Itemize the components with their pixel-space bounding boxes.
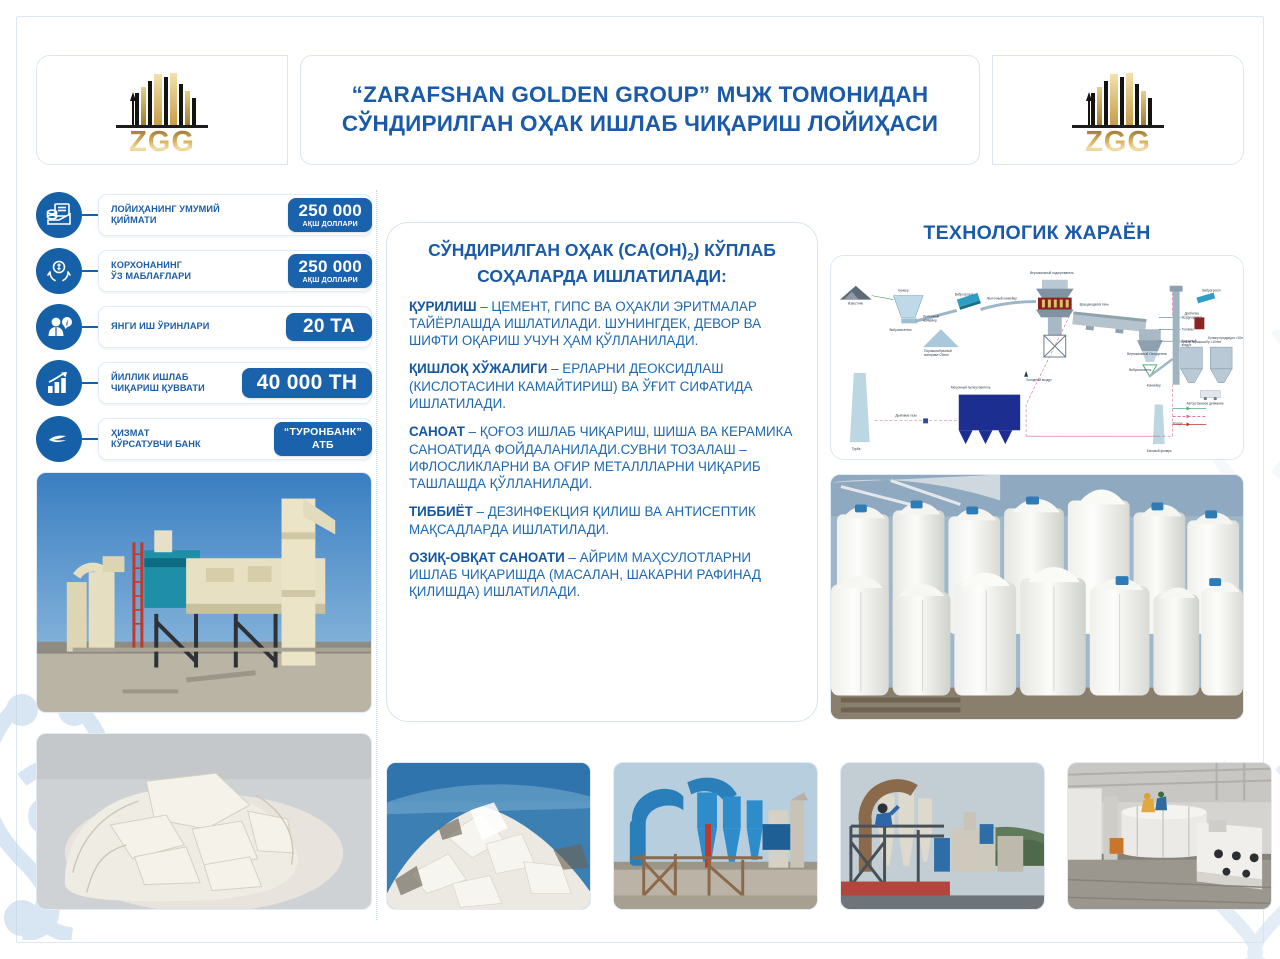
hands-dollar-icon bbox=[36, 248, 82, 294]
svg-text:Конвейер: Конвейер bbox=[1147, 384, 1161, 388]
svg-text:Виброгрохот: Виброгрохот bbox=[955, 293, 974, 297]
status-badge: 20 ТА bbox=[286, 313, 372, 341]
stat-row: ЛОЙИҲАНИНГ УМУМИЙ ҚИЙМАТИ 250 000 АҚШ ДО… bbox=[36, 192, 372, 238]
stat-value: “ТУРОНБАНК” АТБ bbox=[284, 426, 362, 452]
stat-pill: КОРХОНАНИНГ ЎЗ МАБЛАҒЛАРИ 250 000 АҚШ ДО… bbox=[98, 250, 372, 292]
crushed-lime-pile-photo bbox=[386, 762, 591, 910]
stat-label: ҲИЗМАТ КЎРСАТУВЧИ БАНК bbox=[111, 428, 201, 451]
stat-label: КОРХОНАНИНГ ЎЗ МАБЛАҒЛАРИ bbox=[111, 260, 191, 283]
title-line-2: СЎНДИРИЛГАН ОҲАК ИШЛАБ ЧИҚАРИШ ЛОЙИҲАСИ bbox=[342, 111, 938, 136]
svg-text:Вибропитатель: Вибропитатель bbox=[1129, 368, 1152, 372]
svg-text:Бункер продукции >10mm: Бункер продукции >10mm bbox=[1208, 336, 1243, 340]
use-text: – ҚОҒОЗ ИШЛАБ ЧИҚАРИШ, ШИША ВА КЕРАМИКА … bbox=[409, 424, 792, 491]
stat-row: ЙИЛЛИК ИШЛАБ ЧИҚАРИШ ҚУВВАТИ 40 000 ТН bbox=[36, 360, 372, 406]
title-line-1: “ZARAFSHAN GOLDEN GROUP” МЧЖ ТОМОНИДАН bbox=[352, 82, 929, 107]
use-item: ҚИШЛОҚ ХЎЖАЛИГИ – ЕРЛАРНИ ДЕОКСИДЛАШ (КИ… bbox=[409, 360, 795, 412]
stat-connector bbox=[82, 438, 98, 440]
uses-heading-prefix: СЎНДИРИЛГАН ОҲАК (CA(OH) bbox=[428, 240, 687, 260]
uses-heading: СЎНДИРИЛГАН ОҲАК (CA(OH)2) КЎПЛАБ СОҲАЛА… bbox=[409, 239, 795, 288]
stat-connector bbox=[82, 382, 98, 384]
use-term: ҚИШЛОҚ ХЎЖАЛИГИ bbox=[409, 361, 547, 376]
svg-text:Топливо: Топливо bbox=[1182, 327, 1194, 331]
svg-text:Виброгрохот: Виброгрохот bbox=[1202, 289, 1221, 293]
stat-unit: АҚШ ДОЛЛАРИ bbox=[298, 277, 362, 284]
stat-label: ЙИЛЛИК ИШЛАБ ЧИҚАРИШ ҚУВВАТИ bbox=[111, 372, 205, 395]
stat-value: 250 000 bbox=[298, 258, 362, 276]
use-term: САНОАТ bbox=[409, 424, 465, 439]
bottom-photo-strip bbox=[386, 762, 1244, 912]
svg-text:Мешочный пылеуловитель: Мешочный пылеуловитель bbox=[951, 386, 991, 390]
svg-text:Известняк: Известняк bbox=[848, 302, 864, 306]
white-mixer-machinery-photo bbox=[1067, 762, 1272, 910]
use-term: ТИББИЁТ bbox=[409, 504, 473, 519]
use-item: ТИББИЁТ – ДЕЗИНФЕКЦИЯ ҚИЛИШ ВА АНТИСЕПТИ… bbox=[409, 503, 795, 538]
svg-text:Вертикальный подогреватель: Вертикальный подогреватель bbox=[1030, 271, 1074, 275]
stat-value: 40 000 ТН bbox=[252, 372, 362, 394]
uses-panel: СЎНДИРИЛГАН ОҲАК (CA(OH)2) КЎПЛАБ СОҲАЛА… bbox=[386, 222, 818, 722]
stat-connector bbox=[82, 326, 98, 328]
status-badge: 40 000 ТН bbox=[242, 368, 372, 398]
status-badge: 250 000 АҚШ ДОЛЛАРИ bbox=[288, 254, 372, 288]
stat-row: ҲИЗМАТ КЎРСАТУВЧИ БАНК “ТУРОНБАНК” АТБ bbox=[36, 416, 372, 462]
svg-text:Бункер: Бункер bbox=[898, 289, 908, 293]
svg-text:Дробилка: Дробилка bbox=[1185, 311, 1200, 315]
stat-pill: ҲИЗМАТ КЎРСАТУВЧИ БАНК “ТУРОНБАНК” АТБ bbox=[98, 418, 372, 460]
industrial-lime-plant-photo bbox=[36, 472, 372, 713]
blue-cyclone-plant-photo bbox=[613, 762, 818, 910]
poster-page: ZGG “ZARAFSHAN GOLDEN GROUP” МЧЖ ТОМОНИД… bbox=[0, 0, 1280, 959]
stat-value: 20 ТА bbox=[296, 317, 362, 337]
svg-text:Дымовые газы: Дымовые газы bbox=[895, 413, 917, 417]
stat-pill: ЯНГИ ИШ ЎРИНЛАРИ 20 ТА bbox=[98, 306, 372, 348]
header: ZGG “ZARAFSHAN GOLDEN GROUP” МЧЖ ТОМОНИД… bbox=[36, 55, 1244, 165]
right-column: ТЕХНОЛОГИК ЖАРАЁН Известняк Бункер Вибро… bbox=[830, 222, 1244, 720]
svg-text:Труба: Труба bbox=[852, 447, 861, 451]
stat-connector bbox=[82, 270, 98, 272]
stat-value: 250 000 bbox=[298, 202, 362, 220]
stat-connector bbox=[82, 214, 98, 216]
svg-text:Ленточный конвейер: Ленточный конвейер bbox=[986, 297, 1017, 301]
use-term: ҚУРИЛИШ bbox=[409, 299, 477, 314]
zgg-wordmark: ZGG bbox=[1064, 126, 1172, 159]
stat-pill: ЛОЙИҲАНИНГ УМУМИЙ ҚИЙМАТИ 250 000 АҚШ ДО… bbox=[98, 194, 372, 236]
logo-panel-right: ZGG bbox=[992, 55, 1244, 165]
use-term: ОЗИҚ-ОВҚАТ САНОАТИ bbox=[409, 550, 565, 565]
use-item: ОЗИҚ-ОВҚАТ САНОАТИ – АЙРИМ МАҲСУЛОТЛАРНИ… bbox=[409, 549, 795, 601]
documents-money-icon bbox=[36, 192, 82, 238]
stat-label: ЛОЙИҲАНИНГ УМУМИЙ ҚИЙМАТИ bbox=[111, 204, 220, 227]
svg-text:Холодный воздух: Холодный воздух bbox=[1026, 378, 1052, 382]
person-info-icon: i bbox=[36, 304, 82, 350]
technological-process-diagram: Известняк Бункер Вибропитатель Ленточный… bbox=[830, 255, 1244, 460]
bank-wing-icon bbox=[36, 416, 82, 462]
stat-pill: ЙИЛЛИК ИШЛАБ ЧИҚАРИШ ҚУВВАТИ 40 000 ТН bbox=[98, 362, 372, 404]
use-item: САНОАТ – ҚОҒОЗ ИШЛАБ ЧИҚАРИШ, ШИША ВА КЕ… bbox=[409, 423, 795, 492]
stat-row: КОРХОНАНИНГ ЎЗ МАБЛАҒЛАРИ 250 000 АҚШ ДО… bbox=[36, 248, 372, 294]
svg-text:Вращающаяся печь: Вращающаяся печь bbox=[1080, 303, 1110, 307]
status-badge: 250 000 АҚШ ДОЛЛАРИ bbox=[288, 198, 372, 232]
uses-heading-suffix: ) КЎПЛАБ bbox=[693, 240, 775, 260]
status-badge: “ТУРОНБАНК” АТБ bbox=[274, 422, 372, 456]
growth-chart-icon bbox=[36, 360, 82, 406]
svg-text:Бытовой фонарь: Бытовой фонарь bbox=[1147, 449, 1172, 453]
svg-text:Автоустановое движение: Автоустановое движение bbox=[1187, 402, 1224, 406]
stat-label: ЯНГИ ИШ ЎРИНЛАРИ bbox=[111, 321, 210, 333]
lime-chunks-in-bag-photo bbox=[36, 733, 372, 910]
svg-text:Бункер порошкообр.<10mm: Бункер порошкообр.<10mm bbox=[1181, 340, 1222, 344]
stat-row: i ЯНГИ ИШ ЎРИНЛАРИ 20 ТА bbox=[36, 304, 372, 350]
uses-heading-line2: СОҲАЛАРДА ИШЛАТИЛАДИ: bbox=[477, 266, 727, 286]
logo-panel-left: ZGG bbox=[36, 55, 288, 165]
title-panel: “ZARAFSHAN GOLDEN GROUP” МЧЖ ТОМОНИДАН С… bbox=[300, 55, 980, 165]
svg-text:конвейер: конвейер bbox=[923, 318, 937, 322]
svg-text:материал<20mm: материал<20mm bbox=[924, 353, 949, 357]
stats-list: ЛОЙИҲАНИНГ УМУМИЙ ҚИЙМАТИ 250 000 АҚШ ДО… bbox=[36, 192, 372, 462]
svg-text:Воздух: Воздух bbox=[1173, 421, 1184, 425]
zgg-logo-icon: ZGG bbox=[1064, 69, 1172, 151]
tech-process-title: ТЕХНОЛОГИК ЖАРАЁН bbox=[830, 222, 1244, 245]
svg-text:Вертикальный Охладитель: Вертикальный Охладитель bbox=[1127, 352, 1167, 356]
column-divider bbox=[376, 190, 377, 920]
left-column: ЛОЙИҲАНИНГ УМУМИЙ ҚИЙМАТИ 250 000 АҚШ ДО… bbox=[36, 192, 372, 910]
stat-unit: АҚШ ДОЛЛАРИ bbox=[298, 221, 362, 228]
svg-text:Вибропитатель: Вибропитатель bbox=[889, 328, 912, 332]
page-title: “ZARAFSHAN GOLDEN GROUP” МЧЖ ТОМОНИДАН С… bbox=[342, 81, 938, 139]
stacked-white-bulk-bags-photo bbox=[830, 474, 1244, 720]
use-item: ҚУРИЛИШ – ЦЕМЕНТ, ГИПС ВА ОҲАКЛИ ЭРИТМАЛ… bbox=[409, 298, 795, 350]
worker-on-plant-structure-photo bbox=[840, 762, 1045, 910]
zgg-wordmark: ZGG bbox=[108, 126, 216, 159]
zgg-logo-icon: ZGG bbox=[108, 69, 216, 151]
